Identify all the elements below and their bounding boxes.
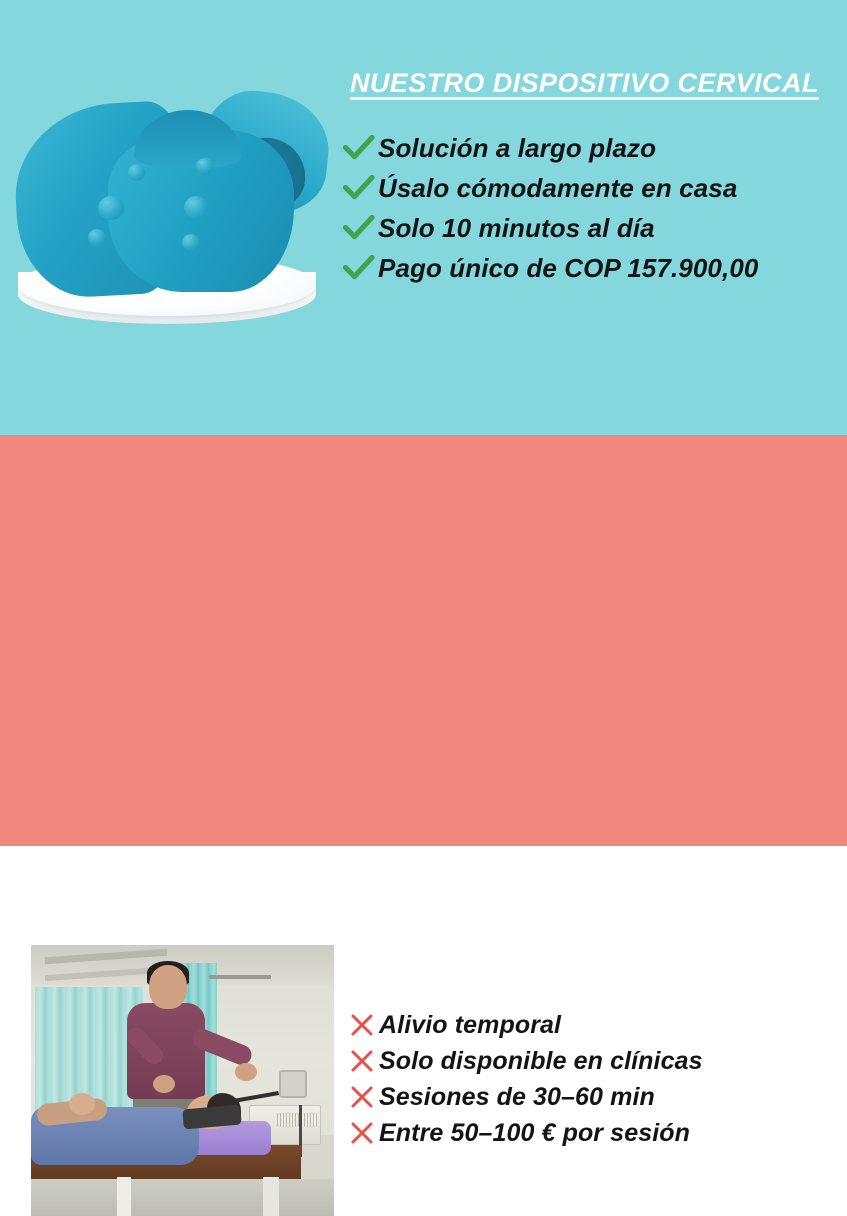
acupressure-bump bbox=[182, 234, 200, 251]
chiropractor-panel-heading: VISITAS AL QUIROPRÁCTICO bbox=[388, 929, 751, 958]
photo-machine-grill bbox=[277, 1113, 317, 1127]
list-item-label: Solución a largo plazo bbox=[378, 133, 656, 164]
photo-therapist-hand bbox=[153, 1075, 175, 1093]
check-icon bbox=[340, 129, 378, 167]
photo-floor bbox=[31, 1179, 334, 1216]
list-item-label: Alivio temporal bbox=[379, 1011, 561, 1040]
cross-icon bbox=[345, 1044, 379, 1078]
list-item-label: Pago único de COP 157.900,00 bbox=[378, 253, 758, 284]
photo-therapist-hand bbox=[235, 1063, 257, 1081]
list-item-label: Sesiones de 30–60 min bbox=[379, 1083, 655, 1112]
chiropractor-session-photo bbox=[31, 945, 334, 1216]
list-item-label: Úsalo cómodamente en casa bbox=[378, 173, 737, 204]
chiropractor-panel: VISITAS AL QUIROPRÁCTICO Alivio temporal… bbox=[0, 435, 847, 846]
list-item: Alivio temporal bbox=[345, 1007, 703, 1043]
list-item: Entre 50–100 € por sesión bbox=[345, 1115, 703, 1151]
list-item-label: Solo 10 minutos al día bbox=[378, 213, 655, 244]
acupressure-bump bbox=[98, 196, 124, 220]
list-item: Sesiones de 30–60 min bbox=[345, 1079, 703, 1115]
cross-icon bbox=[345, 1080, 379, 1114]
acupressure-bump bbox=[196, 158, 214, 174]
product-benefits-list: Solución a largo plazo Úsalo cómodamente… bbox=[340, 128, 758, 288]
cross-icon bbox=[345, 1008, 379, 1042]
photo-patient-hand bbox=[69, 1093, 95, 1115]
product-panel-heading: NUESTRO DISPOSITIVO CERVICAL bbox=[350, 68, 819, 99]
list-item-label: Solo disponible en clínicas bbox=[379, 1047, 703, 1076]
list-item-label: Entre 50–100 € por sesión bbox=[379, 1119, 690, 1148]
check-icon bbox=[340, 209, 378, 247]
cervical-device-image bbox=[8, 86, 338, 356]
check-icon bbox=[340, 169, 378, 207]
photo-table-leg bbox=[263, 1177, 279, 1216]
list-item: Pago único de COP 157.900,00 bbox=[340, 248, 758, 288]
list-item: Solo 10 minutos al día bbox=[340, 208, 758, 248]
acupressure-bump bbox=[128, 164, 145, 181]
list-item: Úsalo cómodamente en casa bbox=[340, 168, 758, 208]
list-item: Solo disponible en clínicas bbox=[345, 1043, 703, 1079]
product-comparison-card: NUESTRO DISPOSITIVO CERVICAL Solución a … bbox=[0, 0, 847, 846]
list-item: Solución a largo plazo bbox=[340, 128, 758, 168]
chiropractor-drawbacks-list: Alivio temporal Solo disponible en clíni… bbox=[345, 1007, 703, 1151]
product-panel: NUESTRO DISPOSITIVO CERVICAL Solución a … bbox=[0, 0, 847, 435]
photo-wall-outlet bbox=[279, 1070, 307, 1098]
check-icon bbox=[340, 249, 378, 287]
photo-therapist-head bbox=[149, 965, 187, 1009]
photo-table-leg bbox=[117, 1177, 131, 1216]
photo-wall-rail bbox=[209, 975, 271, 979]
cervical-pillow bbox=[16, 86, 328, 296]
acupressure-bump bbox=[184, 196, 208, 219]
cross-icon bbox=[345, 1116, 379, 1150]
acupressure-bump bbox=[88, 229, 106, 246]
